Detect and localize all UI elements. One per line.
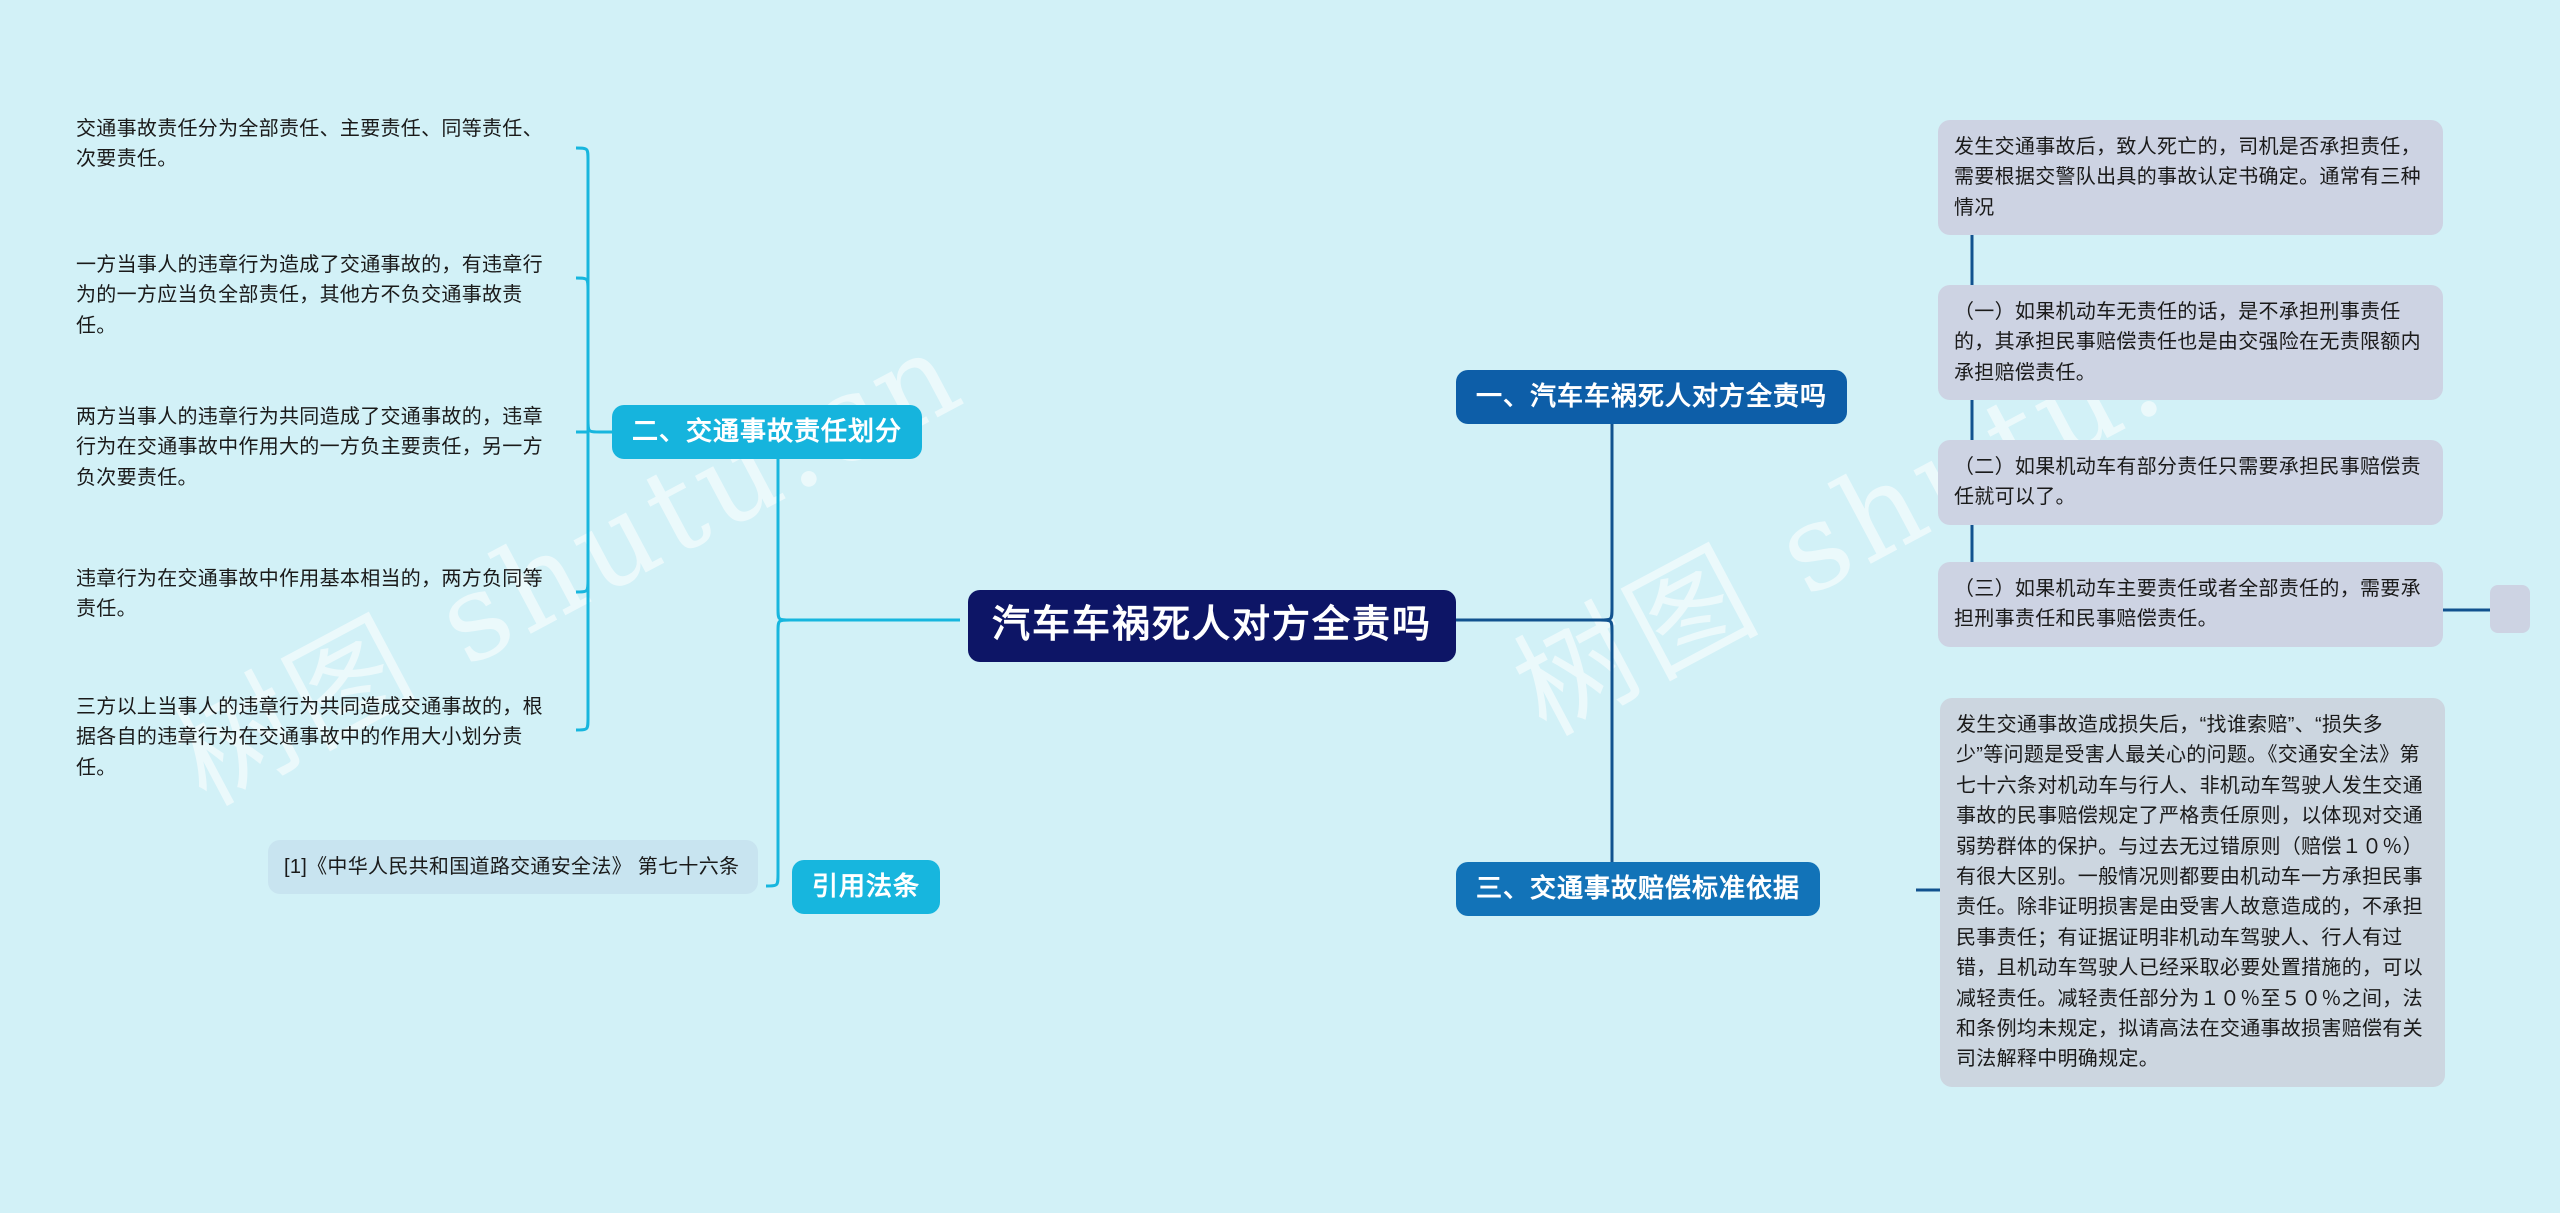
branch-label-car-accident-death-full-liability[interactable]: 一、汽车车祸死人对方全责吗 (1456, 370, 1847, 424)
list-item: （一）如果机动车无责任的话，是不承担刑事责任的，其承担民事赔偿责任也是由交强险在… (1938, 285, 2443, 400)
list-item: 两方当事人的违章行为共同造成了交通事故的，违章行为在交通事故中作用大的一方负主要… (60, 390, 575, 505)
list-item: （二）如果机动车有部分责任只需要承担民事赔偿责任就可以了。 (1938, 440, 2443, 525)
branch-label-traffic-liability-division[interactable]: 二、交通事故责任划分 (612, 405, 922, 459)
list-item: [1]《中华人民共和国道路交通安全法》 第七十六条 (268, 840, 758, 894)
branch-label-compensation-standard-basis[interactable]: 三、交通事故赔偿标准依据 (1456, 862, 1820, 916)
list-item: （三）如果机动车主要责任或者全部责任的，需要承担刑事责任和民事赔偿责任。 (1938, 562, 2443, 647)
root-node[interactable]: 汽车车祸死人对方全责吗 (968, 590, 1456, 662)
list-item: 发生交通事故造成损失后，“找谁索赔”、“损失多少”等问题是受害人最关心的问题。《… (1940, 698, 2445, 1087)
list-item: 违章行为在交通事故中作用基本相当的，两方负同等责任。 (60, 552, 575, 637)
mindmap-canvas: 树图 shutu.cn 树图 shutu.cn (0, 0, 2560, 1213)
branch-label-cited-law[interactable]: 引用法条 (792, 860, 940, 914)
collapsed-node-stub[interactable] (2490, 585, 2530, 633)
list-item: 三方以上当事人的违章行为共同造成交通事故的，根据各自的违章行为在交通事故中的作用… (60, 680, 575, 795)
list-item: 一方当事人的违章行为造成了交通事故的，有违章行为的一方应当负全部责任，其他方不负… (60, 238, 575, 353)
list-item: 发生交通事故后，致人死亡的，司机是否承担责任，需要根据交警队出具的事故认定书确定… (1938, 120, 2443, 235)
list-item: 交通事故责任分为全部责任、主要责任、同等责任、次要责任。 (60, 102, 575, 187)
